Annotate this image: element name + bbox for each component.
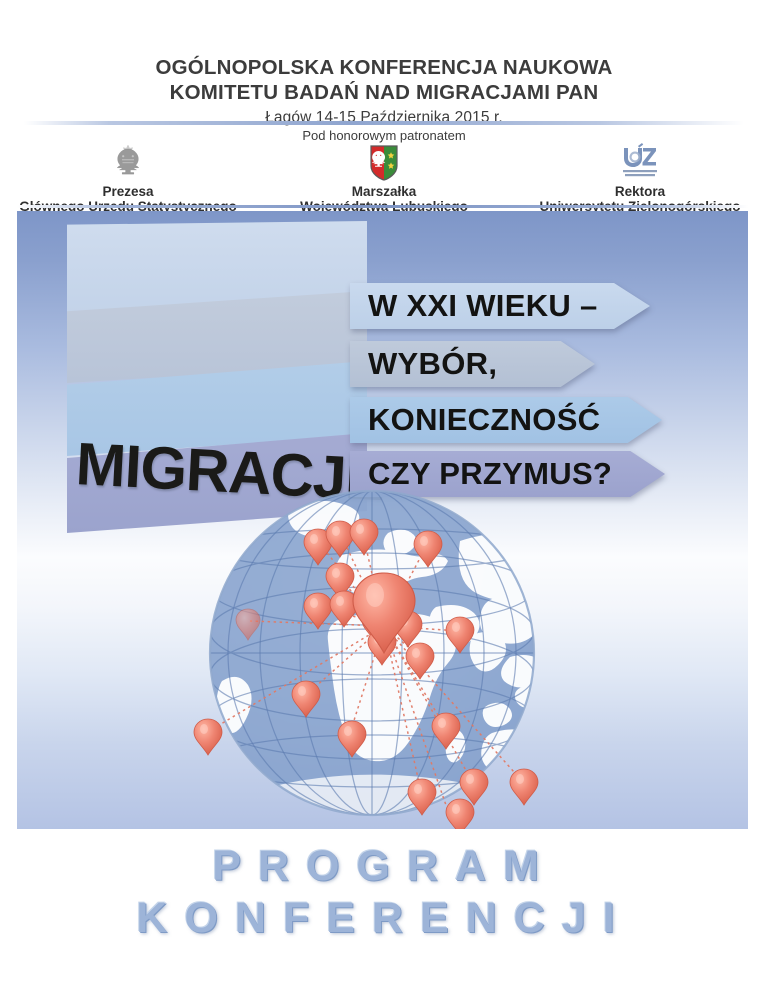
poster-artwork-panel: MIGRACJE W XXI WIEKU – WYBÓR, KONIECZNOŚ… bbox=[17, 211, 748, 829]
header-divider-rule bbox=[24, 121, 744, 125]
header-divider-rule-secondary bbox=[17, 205, 748, 208]
patron-item: Marszałka Województwa Lubuskiego bbox=[256, 140, 512, 215]
subtitle-banner-2-text: WYBÓR, bbox=[350, 346, 497, 382]
poster-header: OGÓLNOPOLSKA KONFERENCJA NAUKOWA KOMITET… bbox=[0, 0, 768, 212]
subtitle-banner-3: KONIECZNOŚĆ bbox=[350, 397, 662, 443]
patron-role: Prezesa bbox=[0, 184, 256, 199]
poster-footer: PROGRAM KONFERENCJI bbox=[0, 840, 768, 944]
polish-eagle-emblem-icon bbox=[0, 140, 256, 182]
conference-title-line-1: OGÓLNOPOLSKA KONFERENCJA NAUKOWA bbox=[0, 55, 768, 80]
subtitle-banner-1-text: W XXI WIEKU – bbox=[350, 288, 598, 324]
university-of-zielona-gora-logo-icon bbox=[512, 140, 768, 182]
patron-role: Rektora bbox=[512, 184, 768, 199]
subtitle-banner-1: W XXI WIEKU – bbox=[350, 283, 650, 329]
subtitle-banner-3-text: KONIECZNOŚĆ bbox=[350, 402, 600, 438]
patron-item: Prezesa Głównego Urzędu Statystycznego bbox=[0, 140, 256, 215]
patron-role: Marszałka bbox=[256, 184, 512, 199]
footer-title-line-2: KONFERENCJI bbox=[0, 892, 768, 944]
footer-title-line-1: PROGRAM bbox=[0, 840, 768, 892]
patrons-row: Prezesa Głównego Urzędu Statystycznego bbox=[0, 140, 768, 215]
conference-title-line-2: KOMITETU BADAŃ NAD MIGRACJAMI PAN bbox=[0, 80, 768, 105]
patron-item: Rektora Uniwersytetu Zielonogórskiego bbox=[512, 140, 768, 215]
lubusz-voivodeship-coat-of-arms-icon bbox=[256, 140, 512, 182]
globe-illustration bbox=[192, 481, 562, 829]
subtitle-banner-2: WYBÓR, bbox=[350, 341, 595, 387]
